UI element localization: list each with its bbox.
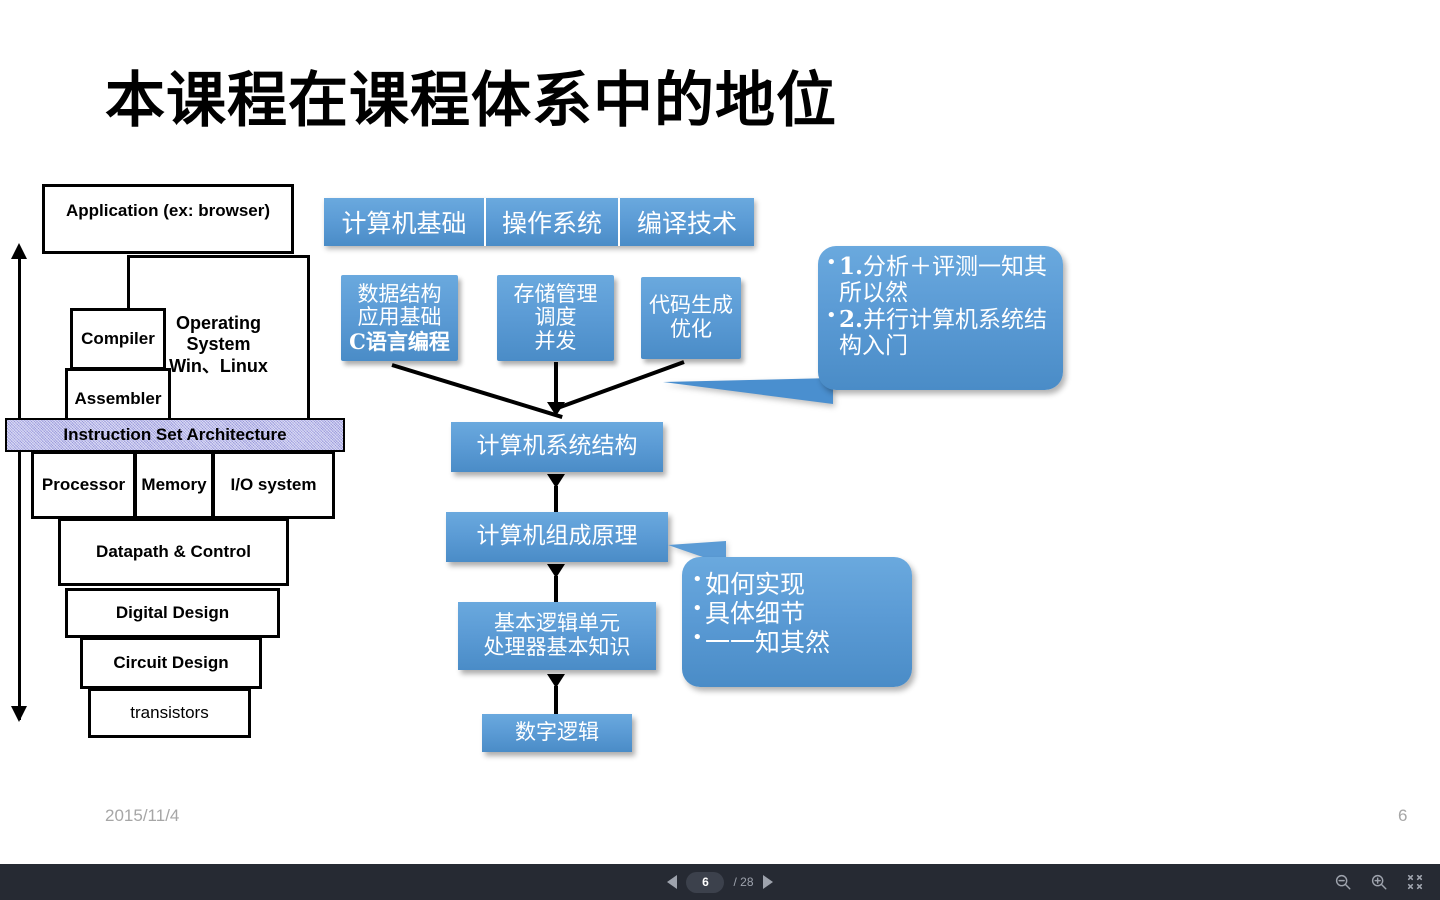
stack-layer-io-system: I/O system xyxy=(212,451,335,519)
code-generation-line-1: 代码生成 xyxy=(649,294,733,318)
logic-units-line-2: 处理器基本知识 xyxy=(484,636,631,660)
banner-item-compiler-technology-label: 编译技术 xyxy=(637,204,737,240)
arrow-org-to-arch-head-icon xyxy=(547,474,565,488)
course-banner: 计算机基础 操作系统 编译技术 xyxy=(324,198,754,246)
callout-top-item-2: 2.并行计算机系统结构入门 xyxy=(826,307,1057,360)
stack-layer-application-label: Application (ex: browser) xyxy=(66,201,270,221)
zoom-out-icon[interactable] xyxy=(1334,873,1352,891)
stack-layer-datapath-control: Datapath & Control xyxy=(58,518,289,586)
stack-layer-circuit-label: Circuit Design xyxy=(113,653,228,673)
course-box-code-generation: 代码生成 优化 xyxy=(641,277,741,359)
storage-management-line-1: 存储管理 xyxy=(514,283,598,307)
spine-box-computer-organization: 计算机组成原理 xyxy=(446,512,668,562)
stack-layer-circuit-design: Circuit Design xyxy=(80,637,262,689)
banner-item-fundamentals: 计算机基础 xyxy=(324,198,486,246)
callout-top-tail xyxy=(663,378,833,404)
stack-layer-instruction-set-architecture: Instruction Set Architecture xyxy=(5,418,345,452)
stack-layer-transistors: transistors xyxy=(88,688,251,738)
arrow-digital-to-logic-head-icon xyxy=(547,674,565,688)
callout-top-item-2-text: 并行计算机系统结构入门 xyxy=(839,307,1047,359)
data-structure-line-3: C语言编程 xyxy=(349,330,450,354)
stack-layer-memory: Memory xyxy=(134,451,214,519)
stack-layer-digital-design: Digital Design xyxy=(65,588,280,638)
scope-arrow-line xyxy=(18,257,21,720)
arrow-head-into-architecture-icon xyxy=(547,402,565,416)
page-title: 本课程在课程体系中的地位 xyxy=(105,52,837,139)
callout-top-item-2-number: 2. xyxy=(839,306,863,333)
viewer-tools xyxy=(1334,873,1424,891)
data-structure-line-2: 应用基础 xyxy=(349,306,450,330)
callout-top-item-1-text: 分析＋评测一知其所以然 xyxy=(839,254,1047,306)
stack-layer-io-label: I/O system xyxy=(231,475,317,495)
pagination-controls: 6 / 28 xyxy=(667,872,772,893)
digital-logic-label: 数字逻辑 xyxy=(515,721,599,745)
abstraction-stack-diagram: Application (ex: browser) Operating Syst… xyxy=(0,175,360,775)
callout-bottom-item-2: 具体细节 xyxy=(692,600,904,629)
arrow-logic-to-org-line xyxy=(554,576,558,604)
stack-layer-isa-label: Instruction Set Architecture xyxy=(63,425,286,445)
stack-layer-assembler-label: Assembler xyxy=(75,389,162,409)
zoom-in-icon[interactable] xyxy=(1370,873,1388,891)
stack-layer-compiler: Compiler xyxy=(70,308,166,370)
spine-box-digital-logic: 数字逻辑 xyxy=(482,714,632,752)
arrow-logic-to-org-head-icon xyxy=(547,564,565,578)
callout-architecture-goals: 1.分析＋评测一知其所以然 2.并行计算机系统结构入门 xyxy=(818,246,1063,390)
stack-layer-transistors-label: transistors xyxy=(130,703,208,723)
arrow-org-to-arch-line xyxy=(554,486,558,514)
stack-layer-application: Application (ex: browser) xyxy=(42,184,294,254)
scope-arrow-down-icon xyxy=(11,706,27,722)
next-slide-icon[interactable] xyxy=(763,875,773,889)
os-line-2: System xyxy=(169,334,268,355)
callout-bottom-item-3: 一一知其然 xyxy=(692,629,904,658)
footer-date: 2015/11/4 xyxy=(105,806,179,826)
arrow-digital-to-logic-line xyxy=(554,686,558,716)
stack-layer-datapath-label: Datapath & Control xyxy=(96,542,251,562)
stack-layer-processor-label: Processor xyxy=(42,475,125,495)
viewer-toolbar: 6 / 28 xyxy=(0,864,1440,900)
os-line-3: Win、Linux xyxy=(169,356,268,377)
computer-organization-label: 计算机组成原理 xyxy=(477,524,638,550)
spine-box-computer-architecture: 计算机系统结构 xyxy=(451,422,663,472)
banner-item-fundamentals-label: 计算机基础 xyxy=(341,204,466,240)
fit-screen-icon[interactable] xyxy=(1406,873,1424,891)
current-page-input[interactable]: 6 xyxy=(686,872,724,893)
course-box-data-structure: 数据结构 应用基础 C语言编程 xyxy=(341,275,458,361)
banner-item-operating-systems-label: 操作系统 xyxy=(502,204,602,240)
computer-architecture-label: 计算机系统结构 xyxy=(477,434,638,460)
scope-arrow-up-icon xyxy=(11,243,27,259)
data-structure-line-1: 数据结构 xyxy=(349,283,450,307)
stack-layer-compiler-label: Compiler xyxy=(81,329,155,349)
storage-management-line-3: 并发 xyxy=(514,330,598,354)
spine-box-logic-units: 基本逻辑单元 处理器基本知识 xyxy=(458,602,656,670)
previous-slide-icon[interactable] xyxy=(667,875,677,889)
stack-layer-memory-label: Memory xyxy=(141,475,206,495)
callout-bottom-item-1: 如何实现 xyxy=(692,571,904,600)
callout-top-item-1: 1.分析＋评测一知其所以然 xyxy=(826,254,1057,307)
total-pages-label: / 28 xyxy=(733,875,753,889)
slide-canvas: 本课程在课程体系中的地位 Application (ex: browser) O… xyxy=(0,0,1440,864)
arrow-data-structure-to-architecture xyxy=(391,363,562,419)
code-generation-line-2: 优化 xyxy=(649,318,733,342)
stack-layer-processor: Processor xyxy=(31,451,136,519)
banner-item-compiler-technology: 编译技术 xyxy=(620,198,754,246)
banner-item-operating-systems: 操作系统 xyxy=(486,198,620,246)
course-box-storage-management: 存储管理 调度 并发 xyxy=(497,275,614,361)
callout-organization-goals: 如何实现 具体细节 一一知其然 xyxy=(682,557,912,687)
callout-top-item-1-number: 1. xyxy=(839,253,863,280)
stack-layer-digital-label: Digital Design xyxy=(116,603,229,623)
logic-units-line-1: 基本逻辑单元 xyxy=(484,612,631,636)
storage-management-line-2: 调度 xyxy=(514,306,598,330)
footer-page-number: 6 xyxy=(1398,806,1407,826)
os-line-1: Operating xyxy=(169,313,268,334)
